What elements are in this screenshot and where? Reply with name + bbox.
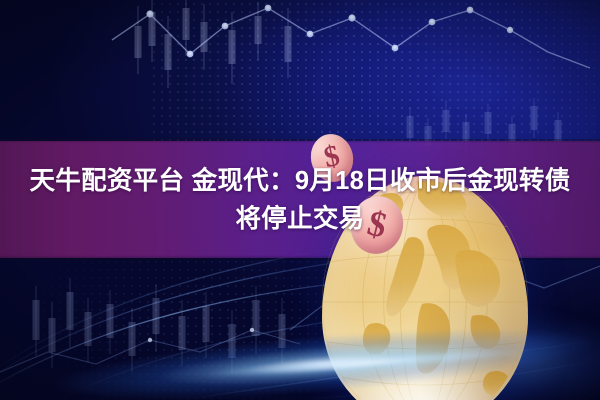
headline-line-1: 天牛配资平台 金现代：9月18日收市后金现转债 (29, 162, 570, 200)
headline-text: 天牛配资平台 金现代：9月18日收市后金现转债 将停止交易 (0, 141, 600, 258)
banner-image: $ $ 天牛配资平台 金现代：9月18日收市后金现转债 将停止交易 (0, 0, 600, 400)
headline-line-2: 将停止交易 (235, 200, 364, 238)
